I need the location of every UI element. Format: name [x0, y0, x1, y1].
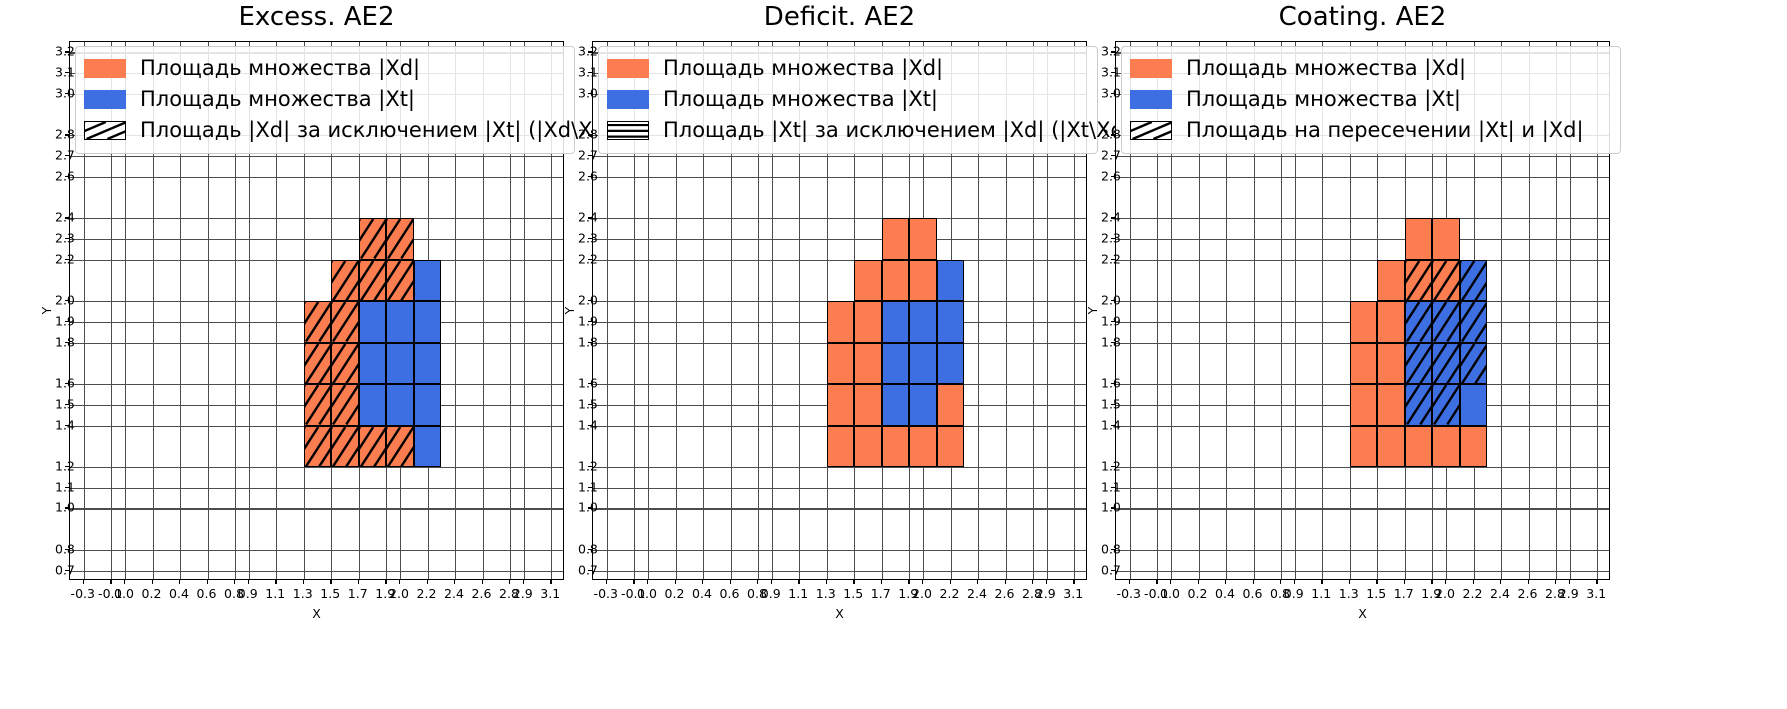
- data-cell-xd: [1350, 426, 1378, 467]
- legend-item-label: Площадь множества |Xd|: [1186, 58, 1466, 79]
- x-tick-label: 0.4: [1215, 586, 1235, 601]
- x-tick-mark: [922, 580, 923, 584]
- x-tick-mark: [1445, 580, 1446, 584]
- legend-item-label: Площадь |Xt| за исключением |Xd| (|Xt\Xd…: [663, 120, 1139, 141]
- data-cell-xd: [909, 218, 937, 259]
- x-tick-mark: [1170, 580, 1171, 584]
- y-tick-label: 2.6: [578, 168, 585, 183]
- x-tick-label: 1.1: [788, 586, 808, 601]
- x-tick-label: 1.1: [1311, 586, 1331, 601]
- y-tick-label: 3.0: [1101, 85, 1108, 100]
- figure-root: Excess. AE2-0.3-0.10.00.20.40.60.80.91.1…: [0, 0, 1787, 709]
- x-tick-label: 1.3: [293, 586, 313, 601]
- legend-item-label: Площадь множества |Xd|: [140, 58, 420, 79]
- data-cell-xt: [359, 301, 387, 342]
- x-tick-mark: [550, 580, 551, 584]
- data-cell-xd: [937, 426, 965, 467]
- data-cell-hatched: [359, 260, 387, 301]
- x-tick-mark: [1431, 580, 1432, 584]
- data-cell-hatched: [1405, 260, 1433, 301]
- data-cell-hatched: [1432, 301, 1460, 342]
- data-cell-xt: [414, 384, 442, 425]
- x-tick-label: 0.9: [1284, 586, 1304, 601]
- x-tick-label: 3.1: [540, 586, 560, 601]
- legend-item[interactable]: Площадь множества |Xt|: [1130, 84, 1612, 115]
- grid-line-horizontal: [593, 177, 1086, 178]
- data-cell-hatched: [304, 343, 332, 384]
- legend-item[interactable]: Площадь множества |Xd|: [1130, 53, 1612, 84]
- y-tick-label: 3.2: [578, 44, 585, 59]
- x-tick-mark: [647, 580, 648, 584]
- legend-swatch-hatch: [607, 121, 649, 140]
- x-tick-mark: [1528, 580, 1529, 584]
- x-tick-mark: [1349, 580, 1350, 584]
- data-cell-hatched: [1405, 343, 1433, 384]
- data-cell-hatched: [386, 260, 414, 301]
- x-tick-mark: [950, 580, 951, 584]
- x-tick-label: 3.1: [1063, 586, 1083, 601]
- x-tick-mark: [1404, 580, 1405, 584]
- x-tick-mark: [977, 580, 978, 584]
- x-tick-mark: [798, 580, 799, 584]
- y-tick-label: 2.2: [55, 251, 62, 266]
- y-tick-label: 2.0: [578, 293, 585, 308]
- grid-line-horizontal: [70, 218, 563, 219]
- x-tick-mark: [730, 580, 731, 584]
- data-cell-xd: [1377, 426, 1405, 467]
- x-tick-label: 2.6: [995, 586, 1015, 601]
- x-tick-label: 0.2: [1188, 586, 1208, 601]
- x-tick-label: -0.3: [594, 586, 618, 601]
- grid-line-horizontal: [1116, 156, 1609, 157]
- data-cell-xd: [1432, 426, 1460, 467]
- y-tick-label: 3.1: [1101, 65, 1108, 80]
- x-axis-label: X: [312, 606, 321, 621]
- data-cell-hatched: [386, 218, 414, 259]
- data-cell-xd: [854, 384, 882, 425]
- grid-line-horizontal: [1116, 508, 1609, 509]
- x-tick-mark: [675, 580, 676, 584]
- x-tick-mark: [399, 580, 400, 584]
- x-tick-label: 3.1: [1586, 586, 1606, 601]
- data-cell-xd: [1377, 343, 1405, 384]
- y-tick-label: 1.8: [1101, 334, 1108, 349]
- y-tick-label: 3.1: [55, 65, 62, 80]
- x-tick-mark: [826, 580, 827, 584]
- x-tick-mark: [1129, 580, 1130, 584]
- x-tick-mark: [124, 580, 125, 584]
- data-cell-xt: [909, 343, 937, 384]
- grid-line-horizontal: [70, 571, 563, 572]
- data-cell-xd: [854, 301, 882, 342]
- x-tick-mark: [1473, 580, 1474, 584]
- grid-line-horizontal: [1116, 550, 1609, 551]
- x-tick-mark: [1073, 580, 1074, 584]
- x-tick-label: 1.7: [871, 586, 891, 601]
- x-tick-mark: [1156, 580, 1157, 584]
- data-cell-xt: [359, 384, 387, 425]
- data-cell-xt: [909, 384, 937, 425]
- y-tick-label: 0.8: [55, 541, 62, 556]
- y-tick-label: 1.2: [1101, 458, 1108, 473]
- data-cell-hatched: [331, 426, 359, 467]
- data-cell-hatched: [1460, 301, 1488, 342]
- grid-line-horizontal: [70, 156, 563, 157]
- data-cell-xd: [1377, 384, 1405, 425]
- grid-line-horizontal: [70, 550, 563, 551]
- data-cell-hatched: [331, 260, 359, 301]
- data-cell-xd: [882, 260, 910, 301]
- grid-line-horizontal: [593, 508, 1086, 509]
- y-tick-label: 1.6: [578, 376, 585, 391]
- y-tick-label: 1.5: [1101, 396, 1108, 411]
- panel-3: Coating. AE2-0.3-0.10.00.20.40.60.80.91.…: [1101, 0, 1624, 709]
- y-tick-label: 2.8: [1101, 127, 1108, 142]
- x-tick-label: 0.9: [238, 586, 258, 601]
- data-cell-xt: [882, 301, 910, 342]
- y-tick-label: 3.0: [578, 85, 585, 100]
- y-tick-label: 1.9: [578, 313, 585, 328]
- data-cell-hatched: [359, 218, 387, 259]
- data-cell-xd: [937, 384, 965, 425]
- legend-item[interactable]: Площадь множества |Xt|: [607, 84, 1089, 115]
- data-cell-xd: [1377, 301, 1405, 342]
- x-tick-label: 2.0: [389, 586, 409, 601]
- y-tick-label: 3.2: [55, 44, 62, 59]
- x-tick-mark: [1046, 580, 1047, 584]
- data-cell-xd: [827, 301, 855, 342]
- legend-item[interactable]: Площадь множества |Xd|: [607, 53, 1089, 84]
- x-tick-mark: [1032, 580, 1033, 584]
- grid-line-horizontal: [70, 260, 563, 261]
- x-tick-label: 2.4: [444, 586, 464, 601]
- y-tick-label: 0.8: [578, 541, 585, 556]
- data-cell-hatched: [359, 426, 387, 467]
- grid-line-horizontal: [1116, 177, 1609, 178]
- data-cell-xd: [909, 426, 937, 467]
- legend-item[interactable]: Площадь |Xd| за исключением |Xt| (|Xd\Xt…: [84, 115, 566, 146]
- x-tick-mark: [523, 580, 524, 584]
- panel-title: Deficit. AE2: [578, 2, 1101, 32]
- y-tick-label: 2.3: [1101, 230, 1108, 245]
- x-tick-mark: [303, 580, 304, 584]
- y-tick-label: 1.2: [55, 458, 62, 473]
- grid-line-horizontal: [70, 488, 563, 489]
- data-cell-xd: [1405, 426, 1433, 467]
- x-tick-label: 1.5: [1366, 586, 1386, 601]
- x-tick-mark: [633, 580, 634, 584]
- x-tick-mark: [482, 580, 483, 584]
- legend-item-label: Площадь на пересечении |Xt| и |Xd|: [1186, 120, 1584, 141]
- legend-swatch-xt: [607, 90, 649, 109]
- legend-item[interactable]: Площадь множества |Xt|: [84, 84, 566, 115]
- data-cell-xt: [909, 301, 937, 342]
- y-tick-label: 1.8: [578, 334, 585, 349]
- x-tick-label: 0.6: [720, 586, 740, 601]
- y-tick-label: 1.5: [55, 396, 62, 411]
- grid-line-horizontal: [593, 156, 1086, 157]
- y-tick-label: 1.4: [1101, 417, 1108, 432]
- y-tick-label: 1.0: [578, 500, 585, 515]
- x-tick-label: 0.9: [761, 586, 781, 601]
- grid-line-horizontal: [70, 467, 563, 468]
- x-tick-label: 2.0: [912, 586, 932, 601]
- x-tick-mark: [908, 580, 909, 584]
- x-tick-mark: [771, 580, 772, 584]
- x-tick-label: 0.0: [1160, 586, 1180, 601]
- y-tick-label: 0.8: [1101, 541, 1108, 556]
- x-tick-mark: [1294, 580, 1295, 584]
- y-tick-label: 2.7: [55, 148, 62, 163]
- x-tick-mark: [179, 580, 180, 584]
- data-cell-hatched: [304, 301, 332, 342]
- x-tick-mark: [358, 580, 359, 584]
- legend-item[interactable]: Площадь на пересечении |Xt| и |Xd|: [1130, 115, 1612, 146]
- data-cell-xd: [1432, 218, 1460, 259]
- legend: Площадь множества |Xd|Площадь множества …: [598, 46, 1098, 154]
- data-cell-hatched: [304, 384, 332, 425]
- x-tick-label: 2.6: [472, 586, 492, 601]
- x-tick-label: 0.0: [114, 586, 134, 601]
- x-tick-mark: [1253, 580, 1254, 584]
- x-tick-mark: [606, 580, 607, 584]
- legend-item-label: Площадь |Xd| за исключением |Xt| (|Xd\Xt…: [140, 120, 616, 141]
- legend-swatch-xt: [84, 90, 126, 109]
- y-tick-label: 2.6: [55, 168, 62, 183]
- x-tick-mark: [1321, 580, 1322, 584]
- data-cell-xd: [827, 384, 855, 425]
- x-tick-label: 0.6: [197, 586, 217, 601]
- data-cell-xt: [1460, 384, 1488, 425]
- data-cell-xd: [854, 343, 882, 384]
- data-cell-xd: [1350, 384, 1378, 425]
- x-tick-label: 1.5: [843, 586, 863, 601]
- y-tick-label: 1.1: [55, 479, 62, 494]
- data-cell-xd: [1460, 426, 1488, 467]
- legend-item-label: Площадь множества |Xd|: [663, 58, 943, 79]
- x-axis-label: X: [835, 606, 844, 621]
- x-tick-label: 1.7: [348, 586, 368, 601]
- y-tick-label: 2.4: [1101, 210, 1108, 225]
- x-tick-label: -0.3: [1117, 586, 1141, 601]
- grid-line-horizontal: [593, 550, 1086, 551]
- y-tick-label: 2.7: [578, 148, 585, 163]
- x-tick-label: 0.2: [665, 586, 685, 601]
- y-tick-label: 2.6: [1101, 168, 1108, 183]
- x-tick-label: 2.4: [1490, 586, 1510, 601]
- x-tick-label: 1.1: [265, 586, 285, 601]
- y-tick-label: 1.2: [578, 458, 585, 473]
- x-tick-label: 2.9: [1559, 586, 1579, 601]
- legend-swatch-xd: [1130, 59, 1172, 78]
- panel-2: Deficit. AE2-0.3-0.10.00.20.40.60.80.91.…: [578, 0, 1101, 709]
- x-tick-mark: [1555, 580, 1556, 584]
- x-tick-label: 0.4: [692, 586, 712, 601]
- y-tick-label: 2.4: [578, 210, 585, 225]
- y-tick-label: 3.0: [55, 85, 62, 100]
- x-tick-label: 2.4: [967, 586, 987, 601]
- x-tick-label: 2.9: [513, 586, 533, 601]
- x-tick-mark: [83, 580, 84, 584]
- grid-line-horizontal: [70, 177, 563, 178]
- x-tick-mark: [1005, 580, 1006, 584]
- y-tick-label: 1.6: [1101, 376, 1108, 391]
- y-tick-label: 2.7: [1101, 148, 1108, 163]
- data-cell-xt: [386, 343, 414, 384]
- data-cell-xt: [386, 384, 414, 425]
- y-tick-label: 1.0: [55, 500, 62, 515]
- legend: Площадь множества |Xd|Площадь множества …: [75, 46, 575, 154]
- data-cell-xt: [414, 343, 442, 384]
- legend-swatch-hatch: [84, 121, 126, 140]
- x-tick-mark: [152, 580, 153, 584]
- data-cell-xt: [882, 384, 910, 425]
- x-tick-mark: [1596, 580, 1597, 584]
- data-cell-xt: [937, 301, 965, 342]
- grid-line-horizontal: [593, 239, 1086, 240]
- y-tick-label: 1.8: [55, 334, 62, 349]
- y-tick-label: 2.8: [578, 127, 585, 142]
- x-tick-mark: [853, 580, 854, 584]
- y-tick-label: 2.2: [1101, 251, 1108, 266]
- y-tick-label: 2.2: [578, 251, 585, 266]
- y-tick-label: 1.6: [55, 376, 62, 391]
- y-tick-label: 1.1: [1101, 479, 1108, 494]
- x-tick-label: 0.6: [1243, 586, 1263, 601]
- y-axis-label: Y: [39, 306, 54, 314]
- x-tick-mark: [1280, 580, 1281, 584]
- y-tick-label: 1.4: [578, 417, 585, 432]
- x-tick-mark: [757, 580, 758, 584]
- x-tick-label: 1.3: [816, 586, 836, 601]
- x-tick-label: 2.2: [940, 586, 960, 601]
- grid-line-horizontal: [1116, 467, 1609, 468]
- x-tick-label: 2.0: [1435, 586, 1455, 601]
- data-cell-xt: [414, 301, 442, 342]
- grid-line-horizontal: [593, 218, 1086, 219]
- data-cell-hatched: [1405, 384, 1433, 425]
- y-axis-label: Y: [562, 306, 577, 314]
- legend-swatch-xt: [1130, 90, 1172, 109]
- x-tick-label: 0.2: [142, 586, 162, 601]
- data-cell-xd: [854, 260, 882, 301]
- data-cell-xd: [1405, 218, 1433, 259]
- x-tick-mark: [1376, 580, 1377, 584]
- data-cell-xd: [1377, 260, 1405, 301]
- x-tick-label: 2.2: [417, 586, 437, 601]
- x-axis-label: X: [1358, 606, 1367, 621]
- data-cell-hatched: [1432, 343, 1460, 384]
- data-cell-hatched: [1460, 260, 1488, 301]
- x-tick-label: 1.7: [1394, 586, 1414, 601]
- grid-line-horizontal: [593, 571, 1086, 572]
- legend-item-label: Площадь множества |Xt|: [663, 89, 938, 110]
- x-tick-mark: [427, 580, 428, 584]
- data-cell-hatched: [1460, 343, 1488, 384]
- data-cell-xt: [359, 343, 387, 384]
- y-tick-label: 3.1: [578, 65, 585, 80]
- x-tick-mark: [248, 580, 249, 584]
- data-cell-xd: [827, 426, 855, 467]
- grid-line-horizontal: [1116, 218, 1609, 219]
- x-tick-mark: [1500, 580, 1501, 584]
- legend-swatch-xd: [84, 59, 126, 78]
- data-cell-xt: [882, 343, 910, 384]
- data-cell-xd: [1350, 343, 1378, 384]
- data-cell-xd: [882, 426, 910, 467]
- grid-line-horizontal: [593, 260, 1086, 261]
- data-cell-xd: [1350, 301, 1378, 342]
- x-tick-label: 0.4: [169, 586, 189, 601]
- y-tick-label: 0.7: [578, 562, 585, 577]
- x-tick-mark: [454, 580, 455, 584]
- x-tick-mark: [234, 580, 235, 584]
- x-tick-mark: [881, 580, 882, 584]
- grid-line-horizontal: [1116, 260, 1609, 261]
- grid-line-horizontal: [1116, 239, 1609, 240]
- legend-swatch-hatch: [1130, 121, 1172, 140]
- grid-line-horizontal: [593, 488, 1086, 489]
- x-tick-label: 1.3: [1339, 586, 1359, 601]
- data-cell-hatched: [331, 301, 359, 342]
- data-cell-hatched: [331, 384, 359, 425]
- y-tick-label: 3.2: [1101, 44, 1108, 59]
- data-cell-xt: [414, 426, 442, 467]
- panel-title: Excess. AE2: [55, 2, 578, 32]
- data-cell-hatched: [1432, 260, 1460, 301]
- x-tick-label: 2.6: [1518, 586, 1538, 601]
- y-tick-label: 2.0: [55, 293, 62, 308]
- data-cell-hatched: [386, 426, 414, 467]
- x-tick-mark: [207, 580, 208, 584]
- grid-line-horizontal: [1116, 571, 1609, 572]
- legend: Площадь множества |Xd|Площадь множества …: [1121, 46, 1621, 154]
- data-cell-xt: [414, 260, 442, 301]
- x-tick-mark: [1198, 580, 1199, 584]
- y-tick-label: 2.0: [1101, 293, 1108, 308]
- data-cell-xd: [909, 260, 937, 301]
- x-tick-mark: [1569, 580, 1570, 584]
- data-cell-xt: [386, 301, 414, 342]
- y-tick-label: 2.4: [55, 210, 62, 225]
- panel-1: Excess. AE2-0.3-0.10.00.20.40.60.80.91.1…: [55, 0, 578, 709]
- data-cell-xt: [937, 343, 965, 384]
- x-tick-label: 0.0: [637, 586, 657, 601]
- x-tick-mark: [702, 580, 703, 584]
- data-cell-hatched: [1405, 301, 1433, 342]
- y-tick-label: 0.7: [55, 562, 62, 577]
- data-cell-xt: [937, 260, 965, 301]
- y-axis-label: Y: [1085, 306, 1100, 314]
- x-tick-mark: [330, 580, 331, 584]
- y-tick-label: 1.4: [55, 417, 62, 432]
- legend-item[interactable]: Площадь множества |Xd|: [84, 53, 566, 84]
- x-tick-mark: [110, 580, 111, 584]
- x-tick-label: 2.9: [1036, 586, 1056, 601]
- grid-line-horizontal: [593, 467, 1086, 468]
- legend-item[interactable]: Площадь |Xt| за исключением |Xd| (|Xt\Xd…: [607, 115, 1089, 146]
- panel-title: Coating. AE2: [1101, 2, 1624, 32]
- grid-line-horizontal: [70, 508, 563, 509]
- data-cell-xd: [854, 426, 882, 467]
- y-tick-label: 2.8: [55, 127, 62, 142]
- data-cell-hatched: [1432, 384, 1460, 425]
- x-tick-label: -0.3: [71, 586, 95, 601]
- x-tick-mark: [1225, 580, 1226, 584]
- y-tick-label: 1.0: [1101, 500, 1108, 515]
- data-cell-xd: [827, 343, 855, 384]
- y-tick-label: 2.3: [55, 230, 62, 245]
